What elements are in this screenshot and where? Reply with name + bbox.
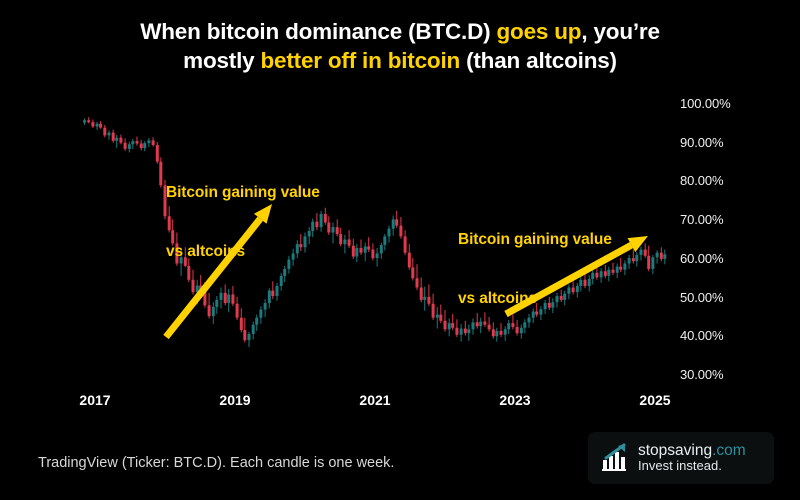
page-title: When bitcoin dominance (BTC.D) goes up, … [0, 18, 800, 76]
candle-body [143, 143, 146, 148]
candle-body [647, 256, 650, 269]
y-axis-tick-90: 90.00% [680, 135, 724, 150]
candle-body [112, 133, 115, 141]
candle-body [212, 307, 215, 316]
candle-body [96, 124, 99, 127]
logo-tagline: Invest instead. [638, 459, 746, 474]
logo-text: stopsaving.com Invest instead. [638, 442, 746, 474]
candle-body [367, 246, 370, 249]
candle-body [399, 226, 402, 237]
annotation-bitcoin-gaining-2: Bitcoin gaining value vs altcoins [458, 190, 612, 349]
y-axis-tick-60: 60.00% [680, 251, 724, 266]
x-axis-tick-2023: 2023 [499, 392, 530, 408]
candle-body [404, 236, 407, 252]
candle-body [623, 264, 626, 270]
candle-body [644, 250, 647, 256]
candle-body [380, 245, 383, 254]
candle-body [259, 310, 262, 318]
candle-body [352, 246, 355, 257]
y-axis-tick-40: 40.00% [680, 328, 724, 343]
x-axis-tick-2025: 2025 [639, 392, 670, 408]
candle-body [152, 140, 155, 145]
candle-body [371, 250, 374, 259]
candle-body [115, 138, 118, 141]
candle-body [99, 124, 102, 128]
candle-body [332, 227, 335, 232]
candle-body [103, 128, 106, 136]
annotation-bitcoin-gaining-1: Bitcoin gaining value vs altcoins [166, 143, 320, 302]
bar-chart-icon [598, 442, 630, 474]
candle-body [364, 246, 367, 252]
candle-body [252, 325, 255, 334]
candle-body [91, 122, 94, 126]
candle-body [427, 297, 430, 304]
candle-body [451, 323, 454, 328]
x-axis-labels: 20172019202120232025 [0, 392, 800, 414]
y-axis-tick-80: 80.00% [680, 173, 724, 188]
candle-body [119, 138, 122, 143]
candle-body [360, 248, 363, 253]
candle-body [124, 143, 127, 149]
logo-stopsaving[interactable]: stopsaving.com Invest instead. [588, 432, 774, 484]
logo-brand: stopsaving [638, 442, 712, 459]
candle-body [423, 297, 426, 300]
annotation-1-line-2: vs altcoins [166, 242, 320, 262]
title-line-1: When bitcoin dominance (BTC.D) goes up, … [0, 18, 800, 47]
x-axis-tick-2019: 2019 [219, 392, 250, 408]
annotation-2-line-2: vs altcoins [458, 289, 612, 309]
candle-body [640, 250, 643, 255]
candle-body [147, 140, 150, 143]
logo-wordmark: stopsaving.com [638, 442, 746, 459]
chart-screenshot: When bitcoin dominance (BTC.D) goes up, … [0, 0, 800, 500]
candle-body [632, 258, 635, 261]
candle-body [324, 214, 327, 223]
candle-body [136, 141, 139, 143]
candle-body [327, 222, 330, 232]
candle-body [416, 278, 419, 287]
title-highlight-1: goes up [497, 19, 582, 44]
y-axis-tick-50: 50.00% [680, 290, 724, 305]
candle-body [156, 145, 159, 162]
y-axis-labels: 100.00%90.00%80.00%70.00%60.00%50.00%40.… [680, 88, 795, 388]
candle-body [376, 253, 379, 258]
candle-body [248, 334, 251, 340]
candle-body [439, 315, 442, 321]
title-highlight-2: better off in bitcoin [261, 48, 461, 73]
annotation-1-line-1: Bitcoin gaining value [166, 183, 320, 203]
candle-body [448, 323, 451, 329]
candle-body [87, 120, 90, 122]
source-note: TradingView (Ticker: BTC.D). Each candle… [38, 455, 394, 471]
title-text-1: When bitcoin dominance (BTC.D) [140, 19, 496, 44]
candle-body [392, 219, 395, 228]
candle-body [355, 248, 358, 257]
candle-body [628, 258, 631, 263]
candle-body [83, 120, 86, 122]
logo-tld: .com [712, 442, 746, 459]
candle-body [651, 257, 654, 269]
candle-body [616, 267, 619, 273]
title-line-2: mostly better off in bitcoin (than altco… [0, 47, 800, 76]
candle-body [336, 227, 339, 234]
candle-body [131, 141, 134, 144]
candle-body [339, 234, 342, 244]
candle-body [240, 318, 243, 330]
candle-body [140, 143, 143, 148]
candle-body [320, 214, 323, 227]
candle-body [395, 219, 398, 225]
y-axis-tick-100: 100.00% [680, 96, 731, 111]
title-text-3: mostly [183, 48, 260, 73]
candle-body [411, 267, 414, 278]
candle-body [159, 162, 162, 186]
candle-body [612, 270, 615, 273]
candle-body [408, 253, 411, 268]
candle-body [420, 288, 423, 300]
x-axis-tick-2021: 2021 [359, 392, 390, 408]
candle-body [243, 330, 246, 340]
candle-body [619, 267, 622, 270]
candle-body [432, 304, 435, 318]
candle-body [660, 253, 663, 259]
candle-body [663, 254, 666, 259]
candle-body [383, 236, 386, 245]
candle-body [343, 240, 346, 245]
candle-body [348, 240, 351, 246]
candle-body [108, 133, 111, 136]
y-axis-tick-30: 30.00% [680, 367, 724, 382]
candle-body [436, 315, 439, 318]
title-text-4: (than altcoins) [460, 48, 617, 73]
candle-body [388, 229, 391, 237]
candle-body [208, 305, 211, 316]
candle-body [255, 318, 258, 325]
candle-body [444, 321, 447, 330]
annotation-2-line-1: Bitcoin gaining value [458, 230, 612, 250]
candle-body [236, 304, 239, 318]
candle-body [635, 255, 638, 261]
x-axis-tick-2017: 2017 [79, 392, 110, 408]
candle-body [656, 253, 659, 258]
y-axis-tick-70: 70.00% [680, 212, 724, 227]
candle-body [128, 144, 131, 149]
title-text-2: , you’re [581, 19, 659, 44]
candle-body [264, 303, 267, 310]
